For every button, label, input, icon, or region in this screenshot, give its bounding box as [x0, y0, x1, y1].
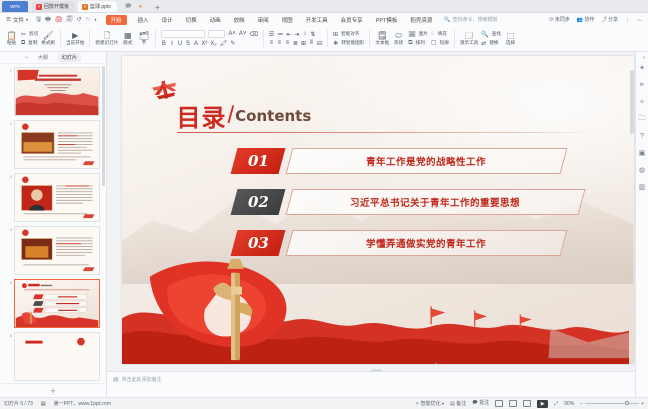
hamburger-icon: ☰ [6, 17, 11, 23]
share-label: 分享 [608, 17, 618, 23]
select-label: 选择 [506, 41, 515, 46]
comment-bubble-icon[interactable]: 🗩 [125, 2, 132, 12]
thumbnail-art [15, 227, 99, 274]
smart-optimize-button[interactable]: ✧ 智能优化 ▾ [415, 400, 444, 407]
line-spacing-button[interactable]: ↕ [302, 31, 307, 37]
item-text-2: 习近平总书记关于青年工作的重要思想 [350, 195, 520, 209]
find-button[interactable]: 🔍 查找 [481, 31, 501, 38]
print-preview-icon[interactable]: 🖶 [45, 15, 51, 25]
thumbnail-row[interactable]: 3 [9, 173, 100, 222]
notes-pane[interactable]: ▤ 单击此处添加备注 [107, 371, 635, 397]
slide-counter: 幻灯片 5 / 73 [4, 400, 33, 407]
smart-optimize-label: 智能优化 [421, 401, 441, 407]
strikethrough-button[interactable]: S [185, 41, 190, 47]
collaborate-button[interactable]: 👥 协作 [577, 16, 595, 23]
ribbon-tab-design[interactable]: 设计 [160, 15, 175, 25]
cloud-icon[interactable]: ● [139, 4, 143, 10]
panel-tab-slides[interactable]: 幻灯片 [58, 53, 81, 62]
toolbar-separator [60, 30, 61, 47]
align-text-button[interactable]: ⊟ [317, 40, 322, 47]
ribbon-right-actions: ⟳ 未同步 👥 协作 ⤴ 分享 ⋮ ︿ [549, 16, 645, 23]
document-tab-1[interactable]: P 回款开模板 [32, 1, 75, 12]
slideshow-group: ▶ 当前开始 [63, 26, 87, 51]
copy-label: 复制 [28, 40, 37, 46]
thumbnail-art [15, 68, 99, 115]
format-panel-icon[interactable]: ⫸ [638, 81, 646, 89]
pdf-icon: P [36, 4, 42, 10]
from-current-slide-button[interactable]: ▶ 当前开始 [66, 32, 84, 46]
notes-toggle-icon: ▤ [450, 401, 455, 407]
outline-button[interactable]: ▢ 轮廓 [431, 39, 449, 46]
convert-smartart-label: 转智能图形 [341, 40, 364, 46]
cut-label: 剪切 [29, 31, 38, 37]
shapes-label: 形状 [394, 41, 403, 46]
text-box-label: 文本框 [375, 41, 389, 46]
comment-toggle-button[interactable]: 🗩 批注 [472, 399, 489, 408]
mouse-cursor [435, 362, 442, 364]
document-tab-2-label: 篮球.pptx [90, 3, 111, 10]
slide-thumbnail-3[interactable] [14, 173, 100, 222]
shapes-icon: ⬭ [395, 32, 402, 40]
notes-icon: ▤ [113, 376, 119, 383]
fill-icon: ◌ [431, 31, 435, 37]
help-icon[interactable]: ? [638, 132, 646, 140]
select-button[interactable]: ⬚ 选择 [504, 32, 517, 46]
zoom-out-button[interactable]: − [580, 401, 583, 407]
file-menu-button[interactable]: ☰ 文件 ▾ [3, 16, 31, 24]
reading-view-icon[interactable] [523, 400, 531, 407]
arrange-label: 排列 [415, 40, 424, 46]
thumbnail-row-selected[interactable]: 5 [9, 279, 100, 328]
slide-title[interactable]: 目录/Contents [177, 98, 312, 133]
thumbnail-number: 5 [9, 279, 12, 328]
toolbar-separator-3 [155, 30, 156, 47]
section-label: 节 [142, 41, 147, 46]
canvas-vertical-scrollbar[interactable] [630, 70, 634, 134]
shapes-button[interactable]: ⬭ 形状 [392, 32, 405, 46]
new-tab-button[interactable]: + [155, 3, 160, 12]
text-effects-button[interactable]: ✎ [230, 40, 235, 47]
zoom-slider-track[interactable] [585, 403, 639, 404]
slide-panel-scrollbar[interactable] [102, 66, 105, 186]
font-row-2: B I U S A X² X₂ 🖍 ✎ [161, 40, 258, 47]
find-select-stack: 🔍 查找 ⇄ 替换 [481, 26, 501, 51]
rail-collapse-button[interactable]: « [642, 55, 645, 61]
sync-status-label: 未同步 [555, 17, 570, 23]
screen-record-icon[interactable]: ▥ [638, 183, 646, 191]
fill-outline-stack: ◌ 填充 ▢ 轮廓 [431, 26, 449, 51]
design-ideas-icon[interactable]: ✦ [638, 64, 646, 72]
notes-placeholder: 单击此处添加备注 [122, 376, 162, 383]
ribbon-tab-start[interactable]: 开始 [106, 15, 127, 25]
present-tools-button[interactable]: 🗔 演示工具 [460, 32, 478, 46]
replace-icon: ⇄ [481, 40, 486, 47]
chevron-down-icon: ▾ [442, 401, 444, 406]
cut-button[interactable]: ✂ 剪切 [21, 31, 38, 38]
item-number-badge-2: 02 [230, 189, 285, 215]
font-color-button[interactable]: A [193, 41, 198, 47]
normal-view-icon[interactable] [495, 400, 503, 407]
thumbnail-row[interactable]: 6 [9, 332, 100, 381]
ribbon-collapse-button[interactable]: ︿ [637, 16, 642, 23]
toolbar-separator-7 [454, 30, 455, 47]
select-icon: ⬚ [507, 32, 515, 40]
sparkle-icon: ✧ [415, 401, 419, 407]
clipboard-small-buttons: ✂ 剪切 ⧉ 复制 [21, 26, 38, 51]
pictures-label: 图片 [419, 31, 428, 37]
slide-thumbnail-6[interactable] [14, 332, 100, 381]
smart-group: ⊞ 智能对齐 ❖ 转智能图形 [330, 26, 367, 51]
format-painter-icon: 🖌 [43, 32, 53, 40]
save-icon[interactable]: 🖫 [36, 15, 41, 25]
fill-label: 填充 [438, 31, 447, 37]
decrease-indent-button[interactable]: ⇤ [286, 31, 291, 38]
item-number-1: 01 [247, 152, 268, 170]
replace-label: 替换 [489, 40, 498, 46]
quick-access-toolbar: 🖫 🖶 🖨 🗐 ↺ ↻ ▾ [36, 15, 97, 25]
redo-icon[interactable]: ↻ [85, 16, 90, 23]
columns-button[interactable]: ⫴ [309, 40, 314, 47]
play-circle-icon: ▶ [72, 32, 78, 40]
item-bar-1[interactable]: 青年工作是党的战略性工作 [285, 148, 567, 174]
align-right-button[interactable]: ≡ [285, 40, 290, 46]
paragraph-group: ☰ ≔ ⇤ ⇥ ↕ ⇅ ≡ ≡ ≡ ≣ ⊞ ⫴ ⊟ [266, 26, 325, 51]
find-label: 查找 [492, 31, 501, 37]
slides-group: 🗋 新建幻灯片 ▦ 版式 🗂 节 [92, 26, 153, 51]
copy-icon: ⧉ [21, 40, 25, 47]
share-button[interactable]: ⤴ 分享 [602, 16, 618, 23]
smart-stack: ⊞ 智能对齐 ❖ 转智能图形 [333, 26, 364, 51]
document-tab-1-label: 回款开模板 [44, 3, 69, 10]
template-credit-icon: ▤ [41, 401, 46, 407]
thumbnail-row[interactable]: 4 [9, 226, 100, 275]
zoom-slider-knob[interactable] [625, 401, 629, 405]
item-text-1: 青年工作是党的战略性工作 [366, 154, 486, 168]
ribbon-search[interactable]: 🔍 查找命令、搜索模板 [444, 16, 497, 23]
title-bar-actions: 🗩 ● + [125, 2, 160, 12]
ribbon-tab-developer[interactable]: 开发工具 [304, 15, 330, 25]
numbering-button[interactable]: ≔ [277, 31, 283, 38]
toolbar-separator-5 [327, 30, 328, 47]
ribbon-tab-view[interactable]: 视图 [280, 15, 295, 25]
slide-thumbnail-panel: « 大纲 幻灯片 1 [0, 52, 107, 397]
toolbar-separator-4 [263, 30, 264, 47]
font-group: A˄ A˅ ⌫ B I U S A X² X₂ 🖍 ✎ [158, 26, 261, 51]
arrange-button[interactable]: ⧉ 排列 [408, 40, 428, 47]
smart-align-button[interactable]: ⊞ 智能对齐 [333, 31, 364, 38]
notes-toggle-button[interactable]: ▤ 备注 [450, 400, 466, 407]
play-slideshow-button[interactable]: ▶ [537, 400, 548, 408]
layout-button[interactable]: ▦ 版式 [121, 32, 134, 46]
bullets-button[interactable]: ☰ [269, 31, 274, 38]
contents-item-2[interactable]: 02 习近平总书记关于青年工作的重要思想 [234, 189, 564, 216]
title-bar: WPS P 回款开模板 P 篮球.pptx 🗩 ● + [0, 0, 648, 13]
distribute-button[interactable]: ⊞ [301, 40, 306, 47]
thumbnail-art [15, 121, 99, 168]
increase-indent-button[interactable]: ⇥ [294, 31, 299, 38]
sync-status-button[interactable]: ⟳ 未同步 [549, 16, 570, 23]
print-settings-icon[interactable]: 🗐 [66, 15, 72, 25]
sync-icon: ⟳ [549, 17, 553, 23]
smart-align-icon: ⊞ [333, 31, 338, 38]
workspace: « 大纲 幻灯片 1 [0, 52, 648, 397]
paragraph-stack: ☰ ≔ ⇤ ⇥ ↕ ⇅ ≡ ≡ ≡ ≣ ⊞ ⫴ ⊟ [269, 26, 322, 51]
text-direction-button[interactable]: ⇅ [310, 31, 315, 38]
document-tab-2[interactable]: P 篮球.pptx [78, 1, 117, 12]
thumbnail-number: 1 [9, 67, 12, 116]
thumbnail-number: 2 [9, 120, 12, 169]
comment-toggle-icon: 🗩 [472, 400, 478, 406]
clipboard-group: 📋 粘贴 ✂ 剪切 ⧉ 复制 🖌 格式刷 [2, 26, 58, 51]
picture-icon: 🖼 [408, 31, 416, 38]
thumbnail-number: 4 [9, 226, 12, 275]
pictures-button[interactable]: 🖼 图片 [408, 31, 428, 38]
comment-toggle-label: 批注 [479, 400, 489, 406]
ribbon-tab-animation[interactable]: 动画 [208, 15, 223, 25]
paragraph-row-2: ≡ ≡ ≡ ≣ ⊞ ⫴ ⊟ [269, 40, 322, 47]
section-button[interactable]: 🗂 节 [137, 32, 150, 46]
ai-assistant-icon[interactable]: ✧ [638, 98, 646, 106]
subscript-button[interactable]: X₂ [210, 41, 216, 47]
scissors-icon: ✂ [21, 31, 26, 38]
collaborate-label: 协作 [585, 17, 595, 23]
bold-button[interactable]: B [161, 41, 166, 47]
paste-button[interactable]: 📋 粘贴 [5, 32, 18, 46]
search-icon: 🔍 [444, 17, 450, 23]
panel-tab-outline[interactable]: 大纲 [35, 53, 51, 62]
outline-label: 轮廓 [440, 40, 449, 46]
file-menu-label: 文件 [13, 16, 24, 24]
fit-to-window-icon[interactable]: ⤢ [554, 401, 558, 407]
font-name-input[interactable] [161, 30, 205, 38]
highlight-button[interactable]: 🖍 [220, 40, 228, 47]
notes-toggle-label: 备注 [456, 401, 466, 407]
new-slide-icon: 🗋 [104, 32, 110, 40]
slide-thumbnail-list[interactable]: 1 [0, 64, 106, 383]
text-box-icon: 🗒 [377, 32, 387, 40]
ribbon-tabs: 开始 插入 设计 切换 动画 放映 审阅 视图 开发工具 会员专享 PPT模板 … [106, 15, 435, 25]
smart-align-label: 智能对齐 [341, 31, 359, 37]
ribbon-tab-slideshow[interactable]: 放映 [232, 15, 247, 25]
fill-button[interactable]: ◌ 填充 [431, 31, 449, 37]
thumbnail-art [15, 174, 99, 221]
status-bar-right: ✧ 智能优化 ▾ ▤ 备注 🗩 批注 ▶ ⤢ 90% − [415, 399, 644, 408]
picture-arrange-stack: 🖼 图片 ⧉ 排列 [408, 26, 428, 51]
from-current-label: 当前开始 [66, 41, 84, 46]
notes-resize-handle[interactable] [371, 369, 382, 372]
ribbon-tab-insert[interactable]: 插入 [136, 15, 151, 25]
title-underline [177, 132, 592, 133]
font-row-1: A˄ A˅ ⌫ [161, 30, 258, 38]
share-icon: ⤴ [602, 17, 607, 23]
title-chinese: 目录 [177, 98, 227, 133]
slide-thumbnail-2[interactable] [14, 120, 100, 169]
justify-button[interactable]: ≣ [293, 40, 298, 47]
tools-group: 🗔 演示工具 🔍 查找 ⇄ 替换 ⬚ 选择 [457, 26, 520, 51]
title-english: Contents [235, 107, 311, 125]
contents-item-1[interactable]: 01 青年工作是党的战略性工作 [234, 148, 564, 175]
thumbnail-number: 6 [9, 332, 12, 381]
format-painter-label: 格式刷 [41, 41, 55, 46]
zoom-in-button[interactable]: + [641, 401, 644, 407]
paste-icon: 📋 [7, 32, 17, 40]
font-size-input[interactable] [208, 30, 225, 38]
ribbon-tab-member[interactable]: 会员专享 [339, 15, 365, 25]
ribbon-tab-docer[interactable]: 稻壳资源 [408, 15, 434, 25]
thumbnail-number: 3 [9, 173, 12, 222]
add-slide-button[interactable]: + [0, 383, 106, 397]
editing-stage: 目录/Contents 01 青年工作是党的战略性工作 [107, 52, 648, 397]
chevron-down-icon: ▾ [26, 17, 28, 22]
customize-qat-icon[interactable]: ▾ [95, 17, 97, 22]
media-icon[interactable]: ▣ [638, 149, 646, 157]
slide-thumbnail-5[interactable] [14, 279, 100, 328]
new-slide-label: 新建幻灯片 [95, 41, 118, 46]
ribbon-tab-ppt-template[interactable]: PPT模板 [374, 15, 400, 25]
status-bar: 幻灯片 5 / 73 ▤ 第一PPT，www.1ppt.com ✧ 智能优化 ▾… [0, 397, 648, 409]
sorter-view-icon[interactable] [509, 400, 517, 407]
arrange-icon: ⧉ [408, 40, 412, 47]
wps-logo[interactable]: WPS [2, 1, 28, 12]
ribbon-tab-transition[interactable]: 切换 [184, 15, 199, 25]
find-icon: 🔍 [481, 31, 488, 38]
collab-icon: 👥 [577, 17, 583, 23]
wps-presentation-window: WPS P 回款开模板 P 篮球.pptx 🗩 ● + ☰ 文件 ▾ 🖫 🖶 🖨… [0, 0, 648, 409]
toolbar-separator-2 [89, 30, 90, 47]
zoom-level-label[interactable]: 90% [564, 401, 574, 407]
insert-group: 🗒 文本框 ⬭ 形状 🖼 图片 ⧉ 排列 ◌ 填充 [372, 26, 452, 51]
thumbnail-art [15, 280, 99, 327]
slide-canvas-area[interactable]: 目录/Contents 01 青年工作是党的战略性工作 [107, 52, 648, 371]
ppt-icon: P [82, 4, 88, 10]
copy-button[interactable]: ⧉ 复制 [21, 40, 38, 47]
item-bar-2[interactable]: 习近平总书记关于青年工作的重要思想 [285, 189, 585, 215]
layout-icon: ▦ [124, 32, 132, 40]
thumbnail-row[interactable]: 1 [9, 67, 100, 116]
font-stack: A˄ A˅ ⌫ B I U S A X² X₂ 🖍 ✎ [161, 26, 258, 51]
format-painter-button[interactable]: 🖌 格式刷 [41, 32, 55, 46]
panel-collapse-icon[interactable]: « [25, 55, 28, 61]
align-center-button[interactable]: ≡ [277, 40, 282, 46]
item-number-badge-1: 01 [230, 148, 285, 174]
present-tools-icon: 🗔 [465, 32, 474, 40]
paste-label: 粘贴 [7, 41, 16, 46]
right-tool-rail: « ✦ ⫸ ✧ 🗀 ? ▣ ◍ ▥ [635, 52, 648, 397]
align-left-button[interactable]: ≡ [269, 40, 274, 46]
increase-font-size-button[interactable]: A˄ [228, 31, 236, 37]
underline-button[interactable]: U [177, 41, 182, 47]
current-slide[interactable]: 目录/Contents 01 青年工作是党的战略性工作 [122, 56, 634, 364]
paragraph-row-1: ☰ ≔ ⇤ ⇥ ↕ ⇅ [269, 31, 322, 38]
print-icon[interactable]: 🖨 [55, 16, 63, 23]
template-credit: 第一PPT，www.1ppt.com [54, 400, 111, 407]
slide-panel-tabs: « 大纲 幻灯片 [0, 52, 106, 64]
resource-library-icon[interactable]: 🗀 [638, 115, 646, 123]
italic-button[interactable]: I [169, 41, 174, 47]
title-slash: / [228, 102, 235, 130]
replace-button[interactable]: ⇄ 替换 [481, 40, 501, 47]
ribbon-overflow-button[interactable]: ⋮ [625, 17, 630, 23]
undo-icon[interactable]: ↺ [76, 16, 81, 23]
ribbon-toolbar: 📋 粘贴 ✂ 剪切 ⧉ 复制 🖌 格式刷 ▶ 当 [0, 26, 648, 52]
new-slide-button[interactable]: 🗋 新建幻灯片 [95, 32, 118, 46]
outline-icon: ▢ [431, 39, 437, 46]
red-flag-artwork [122, 247, 630, 364]
ribbon-tab-strip: ☰ 文件 ▾ 🖫 🖶 🖨 🗐 ↺ ↻ ▾ 开始 插入 设计 切换 动画 放映 审… [0, 13, 648, 26]
thumbnail-row[interactable]: 2 [9, 120, 100, 169]
item-number-2: 02 [247, 193, 268, 211]
layout-label: 版式 [123, 41, 132, 46]
section-icon: 🗂 [139, 32, 149, 40]
slide-thumbnail-4[interactable] [14, 226, 100, 275]
present-tools-label: 演示工具 [460, 41, 478, 46]
toolbar-separator-6 [369, 30, 370, 47]
slide-thumbnail-1[interactable] [14, 67, 100, 116]
superscript-button[interactable]: X² [201, 41, 207, 47]
thumbnail-art [15, 333, 99, 380]
text-box-button[interactable]: 🗒 文本框 [375, 32, 389, 46]
smartart-icon: ❖ [333, 40, 338, 47]
ribbon-search-placeholder: 查找命令、搜索模板 [453, 16, 498, 23]
web-icon[interactable]: ◍ [638, 166, 646, 174]
decrease-font-size-button[interactable]: A˅ [239, 31, 247, 37]
zoom-slider[interactable]: − + [580, 401, 644, 407]
clear-formatting-icon[interactable]: ⌫ [249, 31, 257, 38]
convert-smartart-button[interactable]: ❖ 转智能图形 [333, 40, 364, 47]
ribbon-tab-review[interactable]: 审阅 [256, 15, 271, 25]
